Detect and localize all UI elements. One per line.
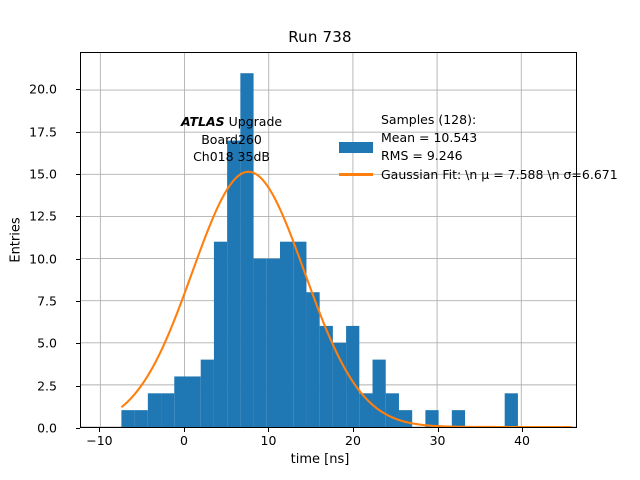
x-tick-label: 0 (180, 433, 188, 448)
y-tick-label: 0.0 (3, 421, 57, 436)
y-axis-label-wrap: Entries (22, 0, 23, 480)
y-tick-label: 17.5 (3, 124, 57, 139)
atlas-annotation-line-3: Ch018 35dB (181, 148, 282, 166)
gaussian-fit-curve (81, 53, 576, 427)
y-tick-label: 12.5 (3, 209, 57, 224)
y-tick-label: 5.0 (3, 336, 57, 351)
x-tick-label: 10 (261, 433, 277, 448)
x-tick-label: 40 (514, 433, 530, 448)
upgrade-label: Upgrade (225, 114, 282, 129)
legend-gaussian-label: Gaussian Fit: \n μ = 7.588 \n σ=6.671 (381, 167, 618, 182)
x-tick-mark (184, 428, 185, 432)
x-tick-mark (268, 428, 269, 432)
x-tick-mark (522, 428, 523, 432)
y-tick-mark (76, 428, 80, 429)
y-tick-label: 7.5 (3, 293, 57, 308)
legend-entry-gaussian[interactable]: Gaussian Fit: \n μ = 7.588 \n σ=6.671 (339, 165, 618, 184)
plot-area: ATLAS Upgrade Board260 Ch018 35dB Sample… (80, 52, 577, 428)
chart-legend: Samples (128): Mean = 10.543 RMS = 9.246… (339, 111, 618, 184)
y-tick-label: 2.5 (3, 378, 57, 393)
y-tick-label: 15.0 (3, 166, 57, 181)
atlas-label: ATLAS (181, 114, 225, 129)
x-tick-label: 30 (430, 433, 446, 448)
matplotlib-figure: Run 738 Entries time [ns] 0.02.55.07.510… (0, 0, 640, 480)
legend-rms-label: RMS = 9.246 (381, 147, 477, 165)
legend-entry-histogram-text: Mean = 10.543 RMS = 9.246 (381, 129, 477, 165)
x-tick-label: −10 (86, 433, 112, 448)
atlas-annotation-line-1: ATLAS Upgrade (181, 113, 282, 131)
chart-title: Run 738 (0, 28, 640, 46)
y-tick-label: 10.0 (3, 251, 57, 266)
legend-mean-label: Mean = 10.543 (381, 129, 477, 147)
atlas-annotation-line-2: Board260 (181, 131, 282, 149)
legend-line-icon (339, 165, 373, 184)
legend-entry-histogram[interactable]: Mean = 10.543 RMS = 9.246 (339, 129, 618, 165)
x-tick-mark (438, 428, 439, 432)
y-tick-label: 20.0 (3, 82, 57, 97)
legend-samples-header: Samples (128): (381, 111, 618, 129)
x-axis-label: time [ns] (0, 452, 640, 467)
x-tick-mark (99, 428, 100, 432)
legend-patch-icon (339, 138, 373, 157)
atlas-annotation: ATLAS Upgrade Board260 Ch018 35dB (181, 113, 282, 166)
x-tick-mark (353, 428, 354, 432)
x-tick-label: 20 (345, 433, 361, 448)
